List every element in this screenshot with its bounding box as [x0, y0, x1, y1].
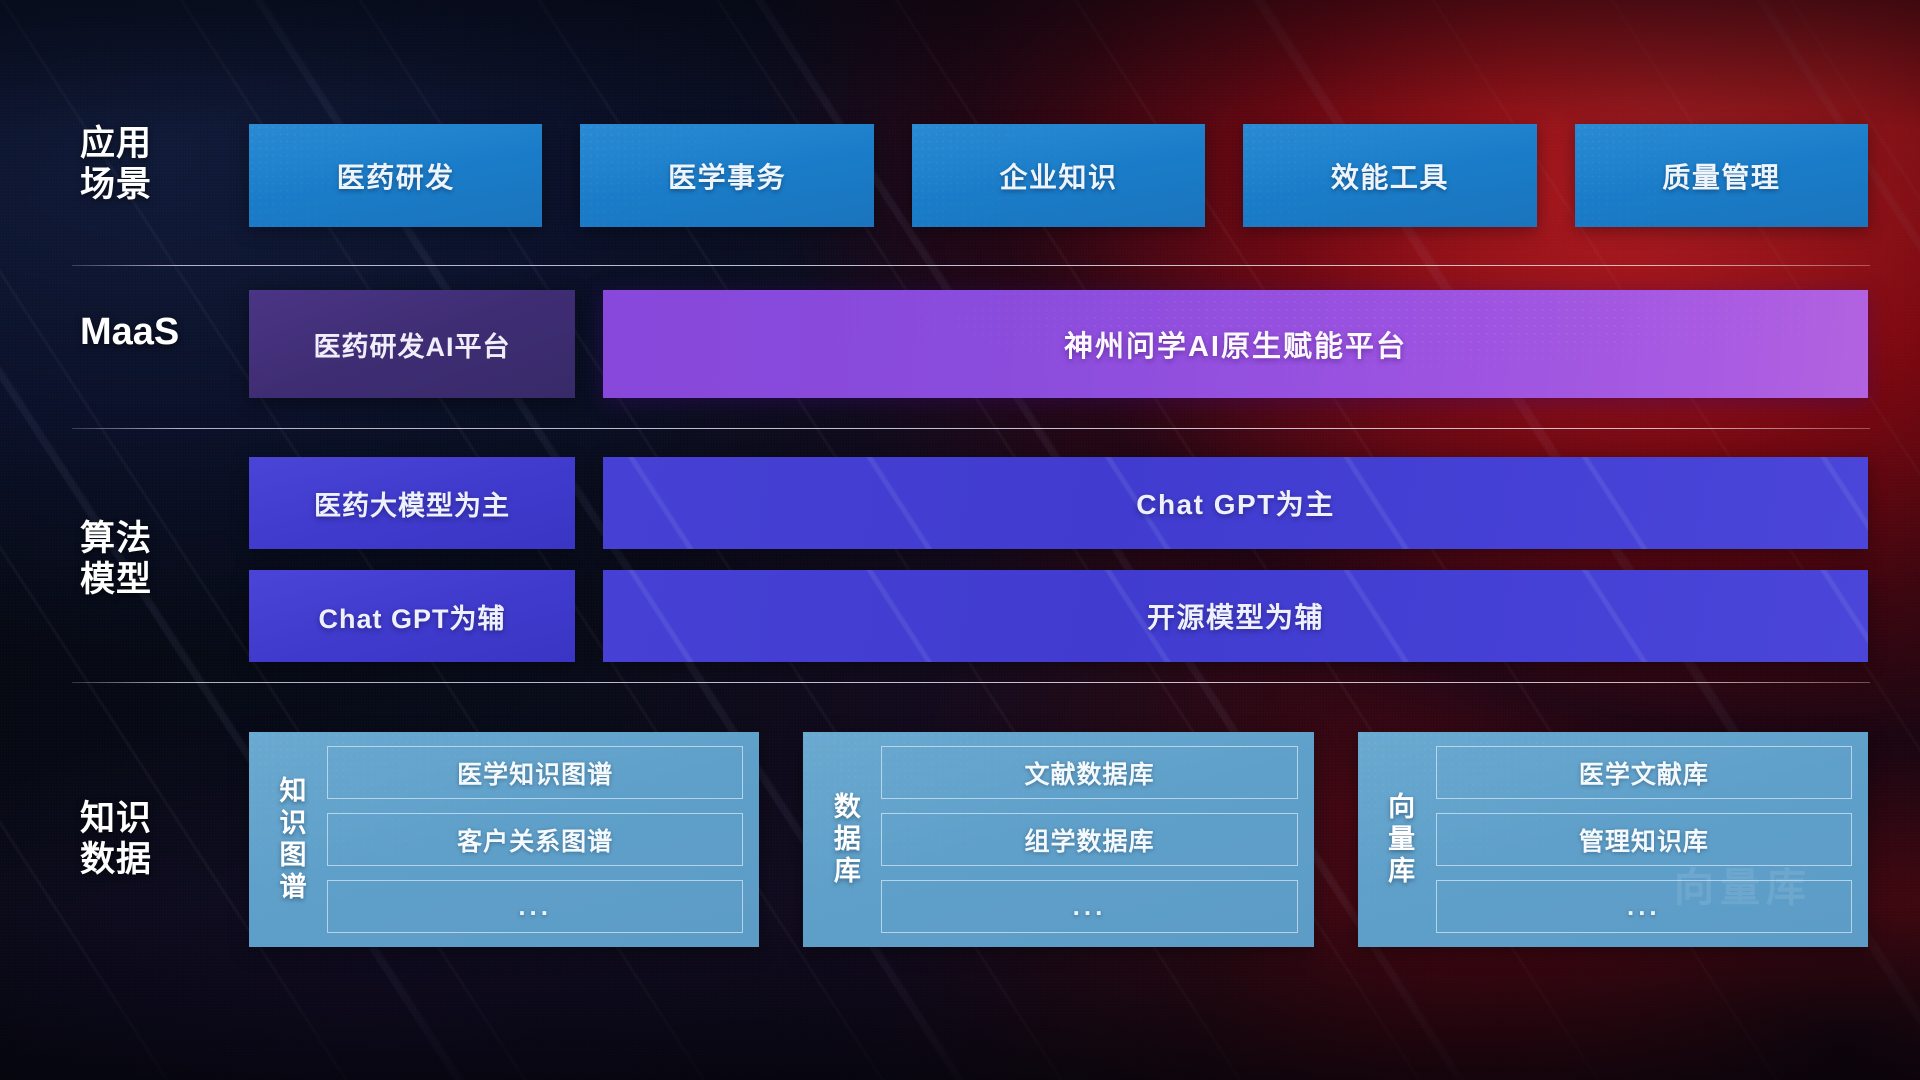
maas-card-pharma-ai-platform[interactable]: 医药研发AI平台 [249, 290, 575, 398]
maas-left-label: 医药研发AI平台 [314, 325, 511, 364]
scenario-card-pharma-rd[interactable]: 医药研发 [249, 124, 542, 227]
row-label-algorithm-models: 算法 模型 [80, 519, 255, 600]
knowledge-group-title: 数据库 [821, 746, 867, 933]
row-label-maas: MaaS [80, 310, 255, 354]
row-label-line-1: 算法 [80, 519, 255, 560]
algorithms-container: 医药大模型为主 Chat GPT为主 Chat GPT为辅 开源模型为辅 [249, 457, 1868, 683]
scenario-card-quality-management[interactable]: 质量管理 [1575, 124, 1868, 227]
maas-container: 医药研发AI平台 神州问学AI原生赋能平台 [249, 290, 1868, 398]
knowledge-item-label: 文献数据库 [1024, 755, 1154, 791]
algo-right-label: 开源模型为辅 [1147, 596, 1324, 636]
algo-card-pharma-llm-primary[interactable]: 医药大模型为主 [249, 457, 575, 549]
knowledge-item-label: 组学数据库 [1024, 822, 1154, 858]
row-label-line-2: 模型 [80, 560, 255, 601]
scenario-label: 效能工具 [1331, 156, 1449, 196]
knowledge-container: 知识图谱 医学知识图谱 客户关系图谱 ... [249, 732, 1868, 947]
knowledge-item-customer-relation-kg[interactable]: 客户关系图谱 [327, 813, 743, 866]
knowledge-item-more[interactable]: ... [1436, 880, 1852, 933]
knowledge-item-management-knowledge-store[interactable]: 管理知识库 [1436, 813, 1852, 866]
algo-left-label: Chat GPT为辅 [318, 597, 505, 636]
maas-card-shenzhou-wenxue-platform[interactable]: 神州问学AI原生赋能平台 [603, 290, 1868, 398]
algo-card-chatgpt-primary[interactable]: Chat GPT为主 [603, 457, 1868, 549]
knowledge-item-more[interactable]: ... [327, 880, 743, 933]
divider-after-scenarios [72, 265, 1870, 266]
knowledge-group-vector-store: 向量库 向量库 医学文献库 管理知识库 ... [1358, 732, 1868, 947]
knowledge-item-label: 管理知识库 [1579, 822, 1709, 858]
diagram-content: 应用 场景 医药研发 医学事务 企业知识 效能工具 [0, 0, 1920, 1080]
knowledge-group-title: 知识图谱 [267, 746, 313, 933]
algorithm-line-primary: 医药大模型为主 Chat GPT为主 [249, 457, 1868, 549]
knowledge-item-medical-kg[interactable]: 医学知识图谱 [327, 746, 743, 799]
algo-right-label: Chat GPT为主 [1136, 483, 1335, 523]
algo-card-opensource-secondary[interactable]: 开源模型为辅 [603, 570, 1868, 662]
scenario-label: 质量管理 [1662, 156, 1780, 196]
knowledge-group-database: 数据库 文献数据库 组学数据库 ... [803, 732, 1313, 947]
knowledge-item-label: 医学文献库 [1579, 755, 1709, 791]
knowledge-item-label: 客户关系图谱 [457, 822, 613, 858]
algo-left-label: 医药大模型为主 [314, 484, 510, 523]
row-label-line-2: 场景 [80, 165, 255, 206]
scenario-card-efficiency-tools[interactable]: 效能工具 [1243, 124, 1536, 227]
diagram-canvas: 应用 场景 医药研发 医学事务 企业知识 效能工具 [0, 0, 1920, 1080]
knowledge-item-more[interactable]: ... [881, 880, 1297, 933]
scenario-card-medical-affairs[interactable]: 医学事务 [580, 124, 873, 227]
algo-card-chatgpt-secondary[interactable]: Chat GPT为辅 [249, 570, 575, 662]
knowledge-group-knowledge-graph: 知识图谱 医学知识图谱 客户关系图谱 ... [249, 732, 759, 947]
scenario-card-enterprise-knowledge[interactable]: 企业知识 [912, 124, 1205, 227]
maas-right-label: 神州问学AI原生赋能平台 [1064, 323, 1407, 365]
divider-after-maas [72, 428, 1870, 429]
knowledge-group-title: 向量库 [1376, 746, 1422, 933]
scenario-label: 企业知识 [1000, 156, 1118, 196]
scenario-label: 医学事务 [668, 156, 786, 196]
scenarios-container: 医药研发 医学事务 企业知识 效能工具 质量管理 [249, 124, 1868, 227]
knowledge-item-medical-literature-store[interactable]: 医学文献库 [1436, 746, 1852, 799]
divider-after-algorithms [72, 682, 1870, 683]
knowledge-item-label: ... [1073, 891, 1107, 922]
scenario-label: 医药研发 [337, 156, 455, 196]
knowledge-item-label: ... [1627, 891, 1661, 922]
row-label-line-1: 知识 [80, 799, 255, 840]
algorithm-line-secondary: Chat GPT为辅 开源模型为辅 [249, 570, 1868, 662]
row-label-knowledge-data: 知识 数据 [80, 799, 255, 880]
knowledge-item-label: 医学知识图谱 [457, 755, 613, 791]
row-label-line-1: 应用 [80, 124, 255, 165]
knowledge-item-omics-db[interactable]: 组学数据库 [881, 813, 1297, 866]
knowledge-item-literature-db[interactable]: 文献数据库 [881, 746, 1297, 799]
row-label-line-2: 数据 [80, 840, 255, 881]
knowledge-item-label: ... [518, 891, 552, 922]
row-label-application-scenarios: 应用 场景 [80, 124, 255, 205]
